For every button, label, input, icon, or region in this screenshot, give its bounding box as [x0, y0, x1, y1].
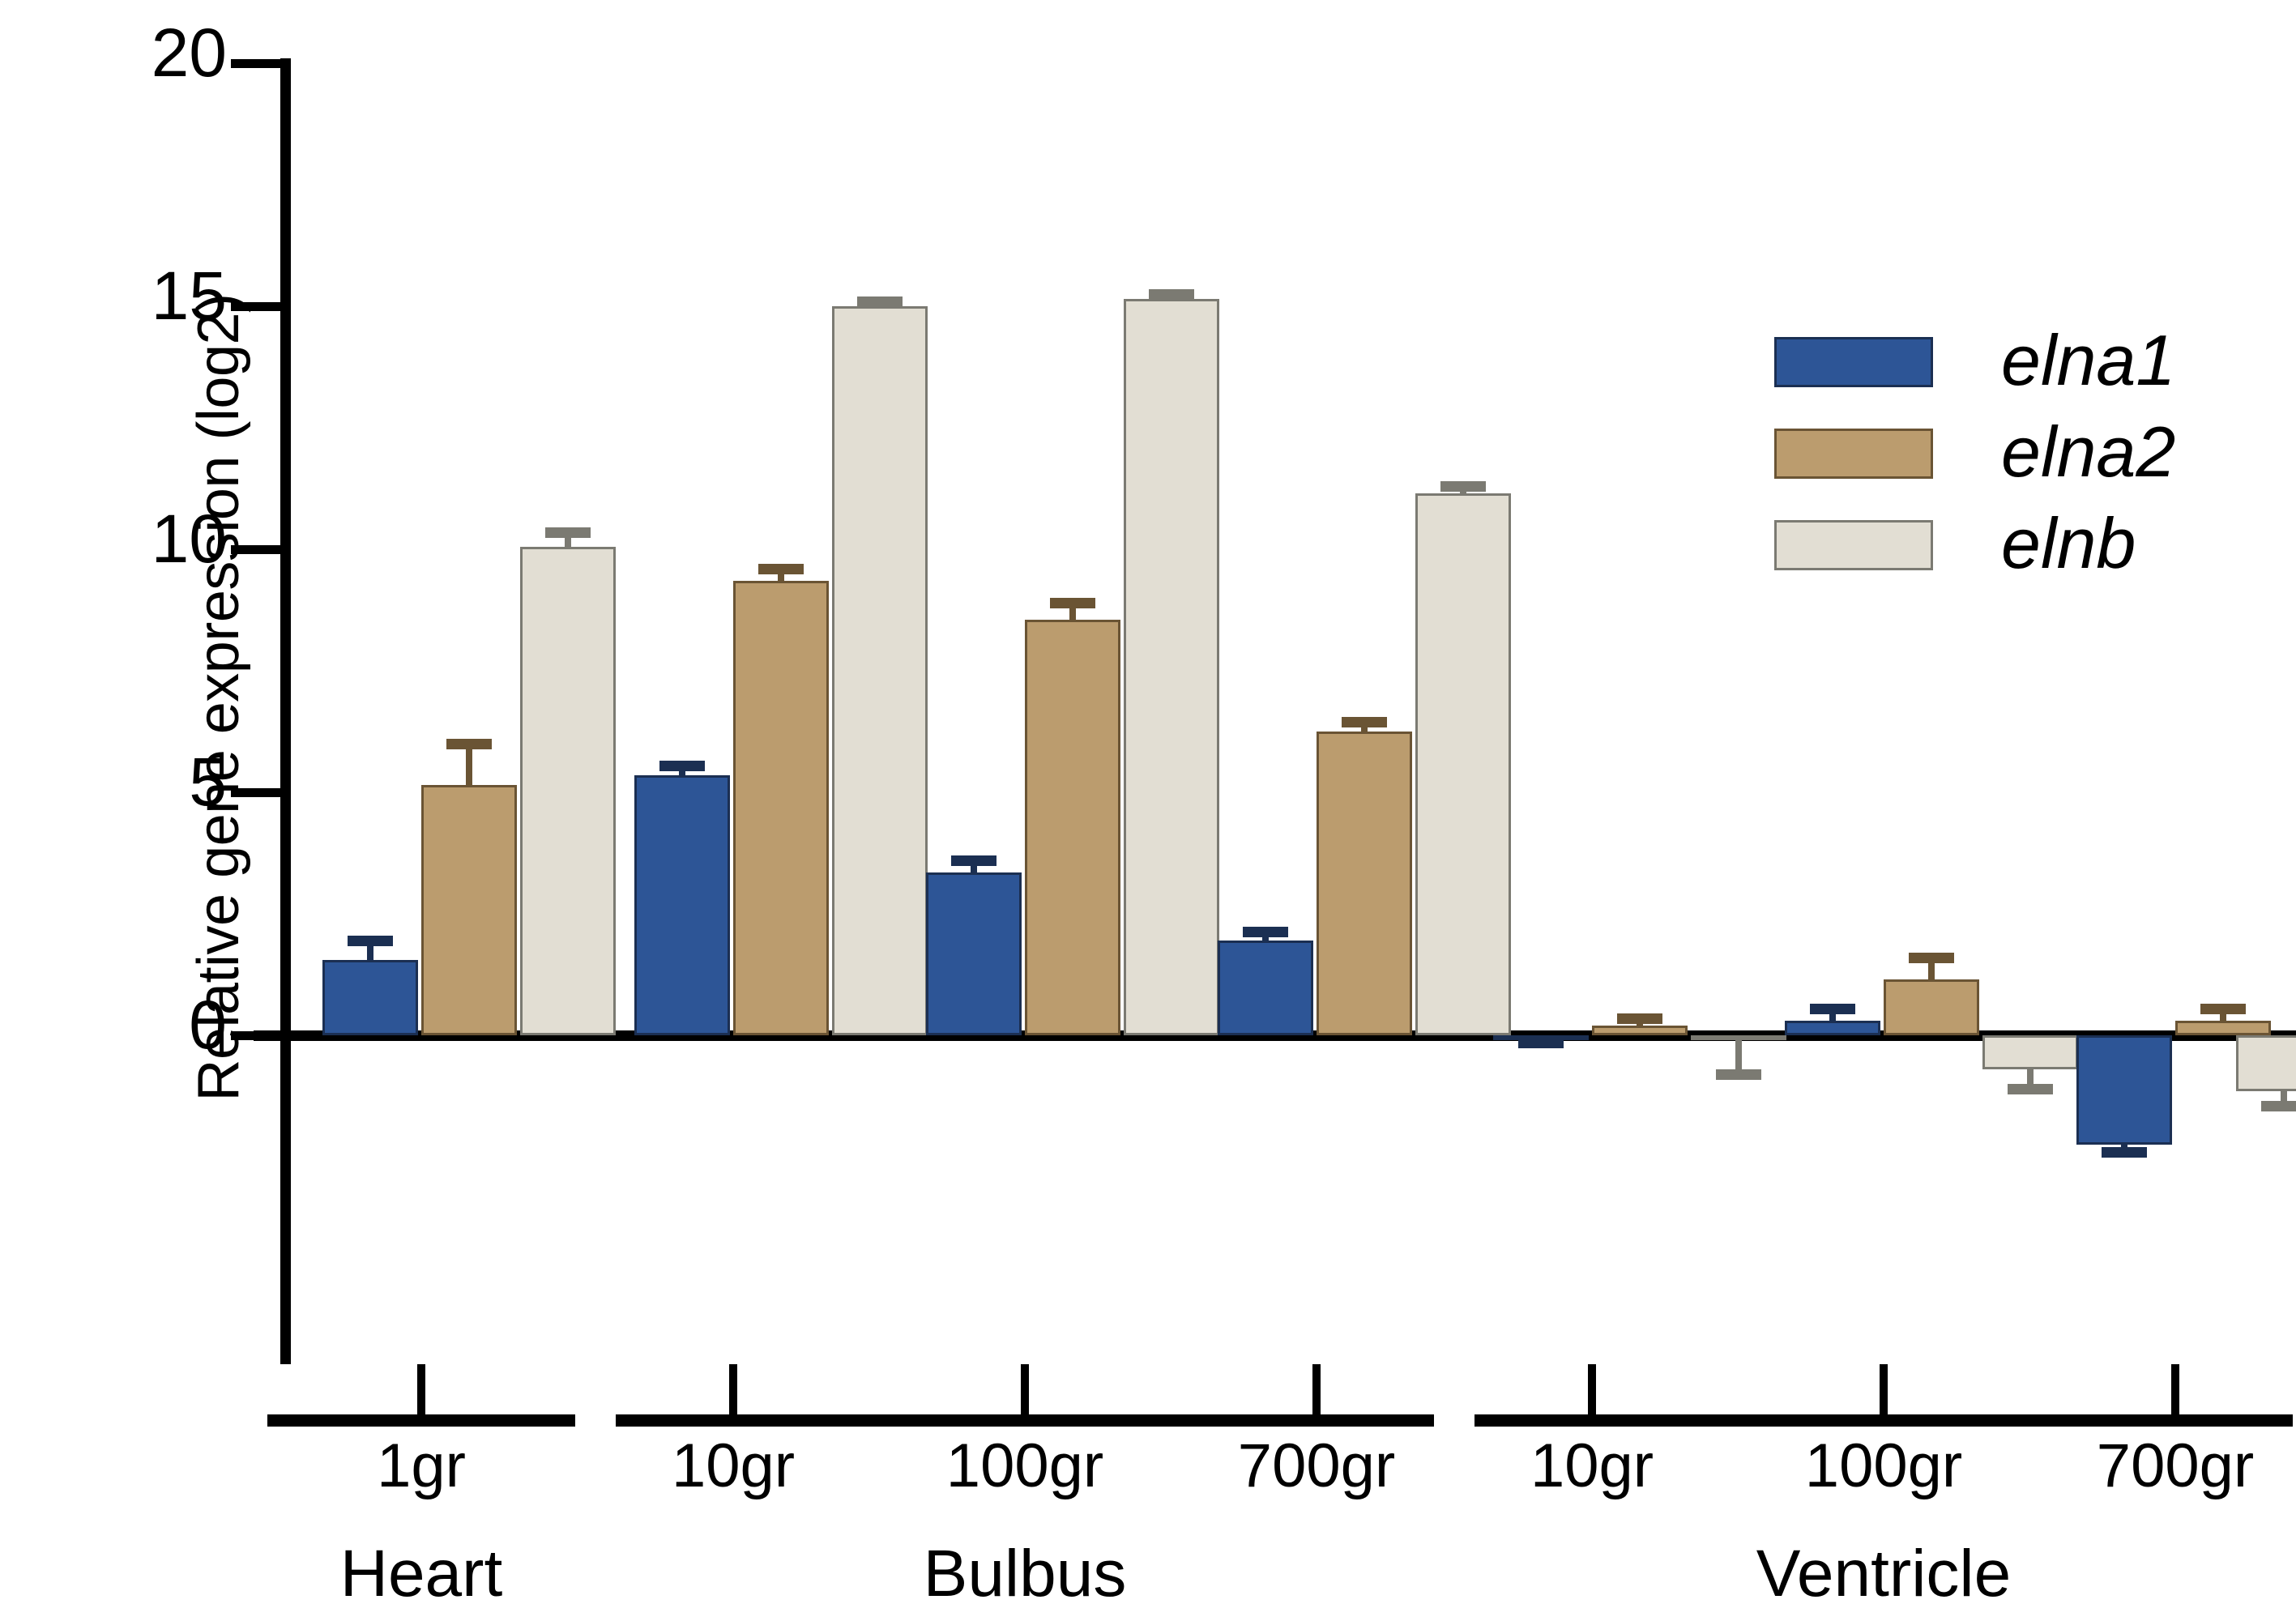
- bar-bulbus-700gr-elnb: [1415, 493, 1511, 1035]
- bar-ventricle-100gr-elna1: [1785, 1021, 1880, 1035]
- bar-heart-1gr-elnb: [520, 547, 616, 1035]
- errorbar-stem-heart-1gr-elna2: [466, 744, 472, 785]
- x-tick-bulbus-10gr: [729, 1364, 737, 1414]
- x-tick-bulbus-100gr: [1021, 1364, 1029, 1414]
- bar-bulbus-100gr-elnb: [1124, 299, 1219, 1035]
- bar-ventricle-700gr-elna1: [2076, 1035, 2172, 1145]
- bar-heart-1gr-elna2: [421, 785, 517, 1035]
- x-tick-label-heart-1gr: 1gr: [300, 1431, 543, 1501]
- bar-ventricle-700gr-elna2: [2175, 1021, 2271, 1035]
- y-tick-20: [231, 59, 281, 68]
- x-tick-label-ventricle-700gr: 700gr: [2054, 1431, 2296, 1501]
- bar-ventricle-100gr-elnb: [1982, 1035, 2078, 1069]
- group-rule-ventricle: [1474, 1414, 2293, 1427]
- y-tick-label-20: 20: [49, 19, 227, 87]
- errorbar-cap-ventricle-700gr-elna1: [2102, 1147, 2147, 1158]
- errorbar-cap-ventricle-100gr-elna2: [1909, 953, 1954, 963]
- x-tick-label-bulbus-10gr: 10gr: [612, 1431, 855, 1501]
- errorbar-cap-bulbus-100gr-elnb: [1149, 289, 1194, 300]
- x-tick-label-ventricle-10gr: 10gr: [1470, 1431, 1713, 1501]
- bar-bulbus-10gr-elna1: [634, 775, 730, 1035]
- errorbar-cap-bulbus-700gr-elna1: [1243, 927, 1288, 937]
- x-tick-ventricle-100gr: [1880, 1364, 1888, 1414]
- y-tick-label-5: 5: [49, 748, 227, 816]
- errorbar-cap-heart-1gr-elnb: [545, 527, 591, 538]
- y-axis-line: [280, 58, 291, 1364]
- errorbar-cap-ventricle-10gr-elna2: [1617, 1013, 1662, 1024]
- legend-label-elna1: elna1: [2001, 319, 2175, 402]
- legend-label-elna2: elna2: [2001, 411, 2175, 493]
- legend: elna1elna2elnb: [1774, 324, 2293, 599]
- legend-item-elna2[interactable]: elna2: [1774, 416, 2293, 507]
- bar-bulbus-100gr-elna2: [1025, 620, 1120, 1035]
- group-rule-bulbus: [616, 1414, 1434, 1427]
- bar-bulbus-10gr-elnb: [832, 306, 928, 1035]
- errorbar-cap-ventricle-10gr-elna1: [1518, 1038, 1564, 1048]
- legend-label-elnb: elnb: [2001, 502, 2136, 585]
- bar-bulbus-10gr-elna2: [733, 581, 829, 1035]
- y-tick-5: [231, 788, 281, 797]
- errorbar-cap-ventricle-100gr-elna1: [1810, 1004, 1855, 1014]
- group-rule-heart: [267, 1414, 575, 1427]
- errorbar-cap-bulbus-10gr-elna2: [758, 564, 804, 574]
- errorbar-cap-ventricle-100gr-elnb: [2008, 1084, 2053, 1094]
- errorbar-cap-ventricle-700gr-elna2: [2200, 1004, 2246, 1014]
- bar-ventricle-100gr-elna2: [1884, 979, 1979, 1035]
- legend-item-elnb[interactable]: elnb: [1774, 507, 2293, 599]
- errorbar-cap-heart-1gr-elna1: [348, 936, 393, 946]
- y-tick-label-0: 0: [49, 991, 227, 1059]
- y-tick-10: [231, 545, 281, 554]
- y-tick-label-15: 15: [49, 262, 227, 330]
- chart-canvas: Relative gene expression (log2) 05101520…: [0, 0, 2296, 1621]
- bar-ventricle-10gr-elna2: [1592, 1026, 1688, 1035]
- group-label-bulbus: Bulbus: [822, 1536, 1227, 1612]
- x-tick-label-ventricle-100gr: 100gr: [1762, 1431, 2005, 1501]
- errorbar-cap-ventricle-700gr-elnb: [2261, 1101, 2296, 1111]
- x-tick-ventricle-10gr: [1588, 1364, 1596, 1414]
- x-tick-ventricle-700gr: [2171, 1364, 2179, 1414]
- bar-bulbus-700gr-elna1: [1218, 941, 1313, 1035]
- y-tick-15: [231, 302, 281, 311]
- legend-swatch-elna2: [1774, 429, 1933, 479]
- bar-ventricle-700gr-elnb: [2236, 1035, 2296, 1091]
- legend-swatch-elnb: [1774, 520, 1933, 570]
- errorbar-cap-bulbus-10gr-elnb: [857, 296, 903, 307]
- errorbar-cap-bulbus-100gr-elna2: [1050, 598, 1095, 608]
- errorbar-cap-bulbus-10gr-elna1: [659, 761, 705, 771]
- x-tick-label-bulbus-700gr: 700gr: [1195, 1431, 1438, 1501]
- bar-bulbus-700gr-elna2: [1317, 732, 1412, 1035]
- x-tick-bulbus-700gr: [1312, 1364, 1321, 1414]
- y-tick-label-10: 10: [49, 505, 227, 573]
- group-label-ventricle: Ventricle: [1681, 1536, 2086, 1612]
- errorbar-cap-bulbus-100gr-elna1: [951, 855, 996, 866]
- legend-swatch-elna1: [1774, 337, 1933, 387]
- bar-bulbus-100gr-elna1: [926, 872, 1022, 1035]
- errorbar-cap-ventricle-10gr-elnb: [1716, 1069, 1761, 1080]
- legend-item-elna1[interactable]: elna1: [1774, 324, 2293, 416]
- group-label-heart: Heart: [219, 1536, 624, 1612]
- x-tick-label-bulbus-100gr: 100gr: [903, 1431, 1146, 1501]
- errorbar-cap-heart-1gr-elna2: [446, 739, 492, 749]
- bar-heart-1gr-elna1: [322, 960, 418, 1035]
- errorbar-cap-bulbus-700gr-elna2: [1342, 717, 1387, 727]
- errorbar-cap-bulbus-700gr-elnb: [1440, 481, 1486, 492]
- x-tick-heart-1gr: [417, 1364, 425, 1414]
